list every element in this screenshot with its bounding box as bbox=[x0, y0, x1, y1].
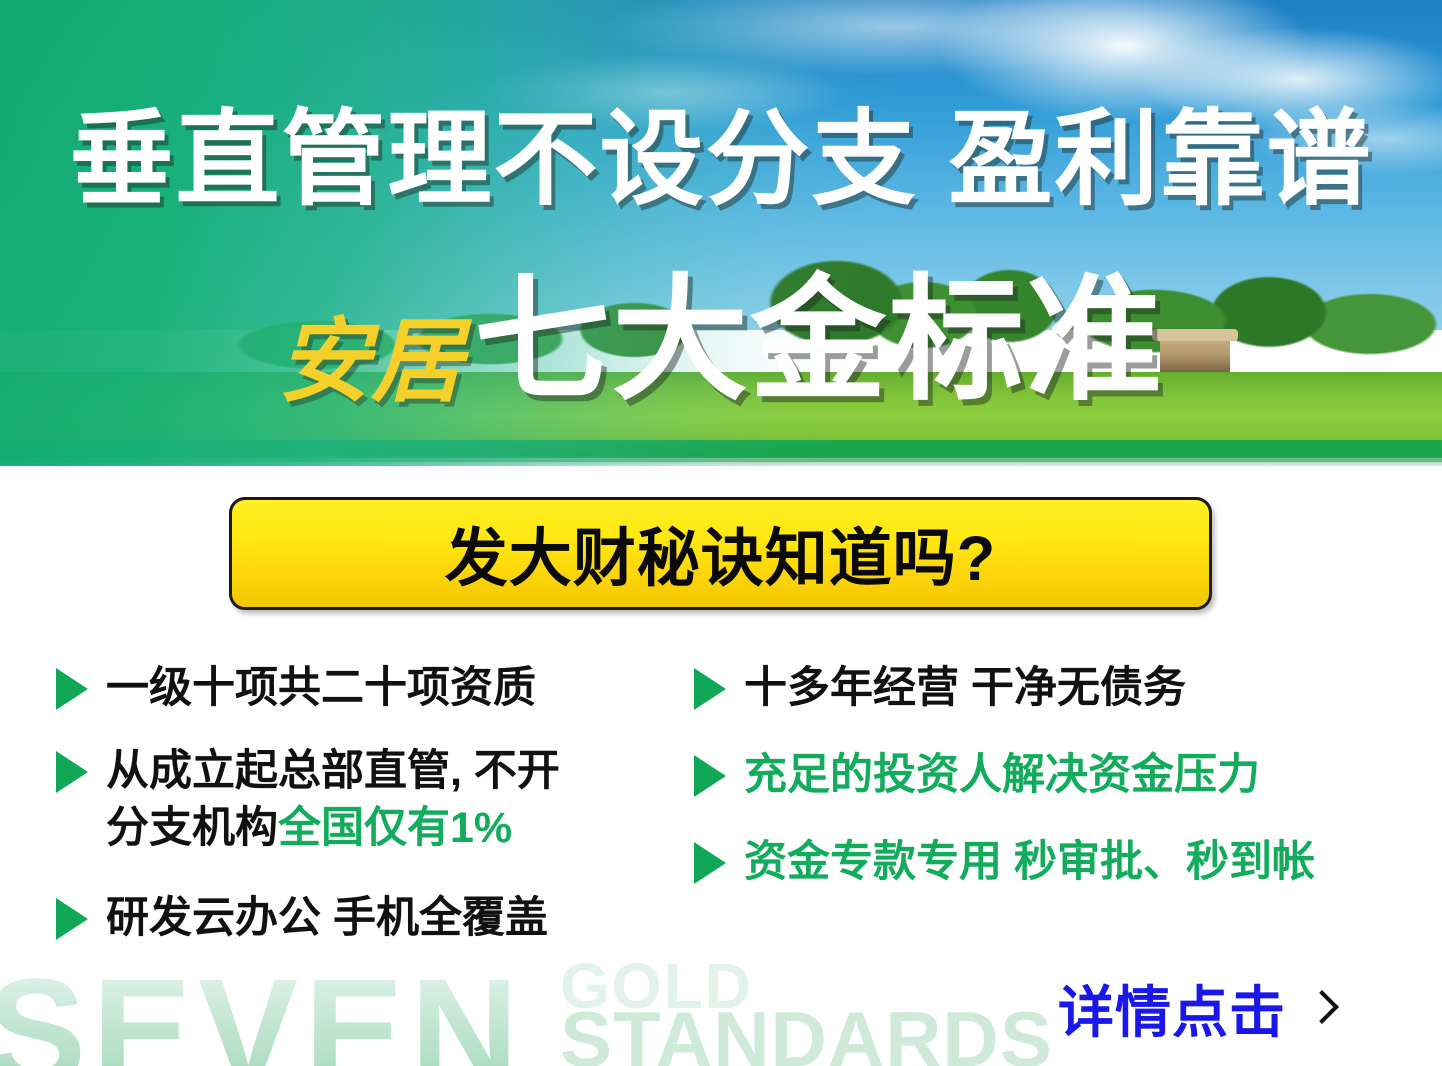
feature-column-left: 一级十项共二十项资质 从成立起总部直管, 不开 分支机构全国仅有1% 研发云办公… bbox=[56, 660, 696, 969]
hero-banner: 垂直管理不设分支 盈利靠谱 安居七大金标准 bbox=[0, 0, 1442, 466]
hero-subtitle: 七大金标准 bbox=[474, 272, 1164, 408]
details-cta-button[interactable]: 详情点击 bbox=[1058, 968, 1334, 1049]
details-cta-label: 详情点击 bbox=[1058, 968, 1286, 1049]
triangle-bullet-icon bbox=[56, 898, 88, 940]
highlight-banner-text: 发大财秘诀知道吗? bbox=[445, 508, 996, 599]
list-item-label: 充足的投资人解决资金压力 bbox=[744, 747, 1260, 804]
list-item-line-2-highlight: 全国仅有1% bbox=[278, 804, 512, 852]
chevron-right-icon bbox=[1308, 987, 1334, 1031]
list-item-label: 一级十项共二十项资质 bbox=[106, 660, 536, 717]
list-item: 资金专款专用 秒审批、秒到帐 bbox=[694, 834, 1424, 891]
triangle-bullet-icon bbox=[694, 842, 726, 884]
list-item-line-2-black: 分支机构 bbox=[106, 804, 278, 852]
feature-column-right: 十多年经营 干净无债务 充足的投资人解决资金压力 资金专款专用 秒审批、秒到帐 bbox=[694, 660, 1424, 912]
triangle-bullet-icon bbox=[694, 668, 726, 710]
triangle-bullet-icon bbox=[56, 751, 88, 793]
hero-subtitle-group: 安居七大金标准 bbox=[0, 272, 1442, 408]
hero-headline: 垂直管理不设分支 盈利靠谱 bbox=[0, 108, 1442, 212]
triangle-bullet-icon bbox=[56, 668, 88, 710]
list-item: 充足的投资人解决资金压力 bbox=[694, 747, 1424, 804]
triangle-bullet-icon bbox=[694, 755, 726, 797]
list-item-label-multiline: 从成立起总部直管, 不开 分支机构全国仅有1% bbox=[106, 743, 560, 857]
watermark-standards: STANDARDS bbox=[560, 1000, 1053, 1066]
list-item: 一级十项共二十项资质 bbox=[56, 660, 696, 717]
list-item-label: 资金专款专用 秒审批、秒到帐 bbox=[744, 834, 1315, 891]
list-item: 研发云办公 手机全覆盖 bbox=[56, 890, 696, 947]
hero-brand-name: 安居 bbox=[278, 316, 464, 408]
highlight-banner[interactable]: 发大财秘诀知道吗? bbox=[229, 497, 1212, 610]
advertisement-poster: 垂直管理不设分支 盈利靠谱 安居七大金标准 发大财秘诀知道吗? 一级十项共二十项… bbox=[0, 0, 1442, 1066]
hero-text-group: 垂直管理不设分支 盈利靠谱 安居七大金标准 bbox=[0, 0, 1442, 466]
list-item-label: 十多年经营 干净无债务 bbox=[744, 660, 1186, 717]
feature-list: 一级十项共二十项资质 从成立起总部直管, 不开 分支机构全国仅有1% 研发云办公… bbox=[0, 660, 1442, 1000]
list-item: 十多年经营 干净无债务 bbox=[694, 660, 1424, 717]
list-item: 从成立起总部直管, 不开 分支机构全国仅有1% bbox=[56, 743, 696, 857]
list-item-label: 研发云办公 手机全覆盖 bbox=[106, 890, 548, 947]
list-item-line-1: 从成立起总部直管, 不开 bbox=[106, 747, 560, 795]
